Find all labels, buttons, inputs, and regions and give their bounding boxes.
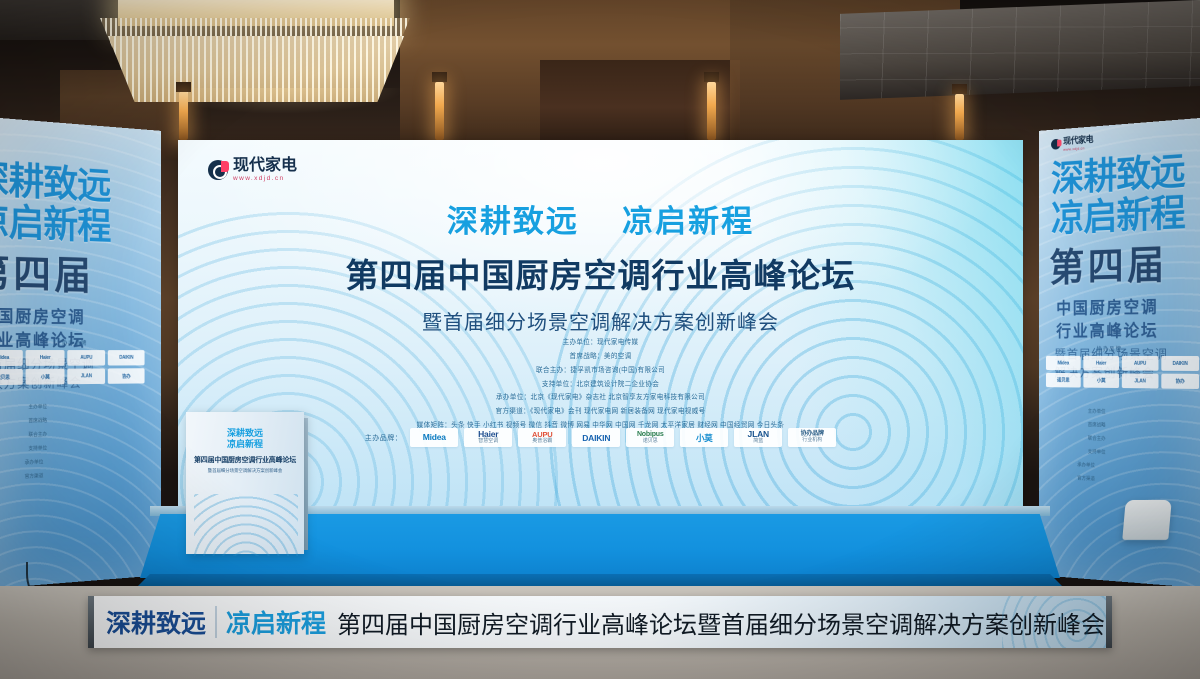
wing-left-note-2: 首席战略 [28,417,47,426]
wing-logo-chip: 小莫 [26,369,65,385]
sponsor-logo-xiaomo: 小莫 [680,428,728,447]
sponsor-subname: 智慧空调 [478,439,498,445]
sconce-cap-1 [176,82,191,92]
wing-logo-chip: AUPU [67,350,105,366]
wing-logo-chip: 诺贝思 [0,369,23,385]
stage-wing-left: 深耕致远 凉启新程 第四届 中国厨房空调 行业高峰论坛 暨首届细分场景空调 解决… [0,118,161,588]
wing-logo-chip: JLAN [67,368,105,384]
backdrop-slogan: 深耕致远 凉启新程 [178,196,1023,241]
sconce-cap-4 [952,84,967,94]
wing-logo-chip: Midea [1046,356,1081,370]
credit-line: 主办单位：现代家电传媒 [178,336,1023,350]
sponsor-subname: 行业机构 [802,438,822,444]
wing-right-slogan-2: 凉启新程 [1051,195,1185,240]
speaker-podium: 深耕致远 凉启新程 第四届中国厨房空调行业高峰论坛 暨首届细分场景空调解决方案创… [186,412,304,554]
wing-left-slogan-1: 深耕致远 [0,160,110,207]
banner-endcap-right [1106,596,1112,648]
chandelier-glow [156,88,406,114]
sponsor-logo-nobipus: Nobipus 诺贝思 [626,428,674,447]
wing-right-note-6: 官方渠道 [1077,475,1095,484]
wall-sconce-4 [955,94,964,140]
wing-left-note-5: 承办单位 [25,458,44,467]
podium-slogan-1: 深耕致远 [186,428,304,439]
credit-line: 联合主办：捷孚凯市场咨询(中国)有限公司 [178,364,1023,378]
wing-left-slogan-2: 凉启新程 [0,203,110,248]
sponsor-logo-jlan: JLAN 简蓝 [734,428,782,447]
wing-right-brand-logo: 现代家电 www.xdjd.cn [1051,132,1093,152]
wing-right-note-5: 承办单位 [1077,461,1095,470]
wing-left-note-4: 支持单位 [28,445,47,454]
wing-left-sub-1: 中国厨房空调 [0,306,85,330]
credit-line: 首席战略：美的空调 [178,350,1023,364]
wing-left-big-title: 第四届 [0,253,94,296]
wing-left-note-3: 联合主办 [28,431,47,440]
crystal-chandelier [96,0,416,102]
slogan-right: 凉启新程 [622,204,754,239]
brand-url: www.xdjd.cn [233,176,297,183]
wing-left-logo-grid: Midea Haier AUPU DAIKIN 诺贝思 小莫 JLAN 协办 [0,350,156,385]
banner-divider [215,606,217,638]
slogan-left: 深耕致远 [447,204,579,239]
sponsor-name: Midea [423,433,446,442]
podium-sub-title: 暨首届细分场景空调解决方案创新峰会 [186,468,304,474]
wing-right-note-1: 主办单位 [1088,408,1106,417]
wing-logo-chip: Midea [0,350,23,366]
banner-title: 第四届中国厨房空调行业高峰论坛暨首届细分场景空调解决方案创新峰会 [337,605,1105,640]
wall-sconce-3 [707,82,716,140]
stage-front-banner: 深耕致远 凉启新程 第四届中国厨房空调行业高峰论坛暨首届细分场景空调解决方案创新… [88,596,1112,648]
wing-right-logo-grid: Midea Haier AUPU DAIKIN 诺贝思 小莫 JLAN 协办 [1046,356,1200,389]
wall-sconce-1 [179,92,188,140]
sponsor-logo-aupu: AUPU 奥普浴霸 [518,428,566,447]
banner-endcap-left [88,596,94,648]
banner-ring-pattern [1002,596,1112,648]
sponsor-subname: 简蓝 [753,439,763,445]
stage-wing-right: 现代家电 www.xdjd.cn 深耕致远 凉启新程 第四届 中国厨房空调 行业… [1039,118,1200,588]
wing-right-partner-label: 协办品牌 [1097,344,1122,353]
xdjd-mark-icon [208,160,228,180]
conference-stage-photo: 深耕致远 凉启新程 第四届 中国厨房空调 行业高峰论坛 暨首届细分场景空调 解决… [0,0,1200,679]
wing-right-sub-2: 行业高峰论坛 [1056,320,1158,343]
wing-logo-chip: AUPU [1122,356,1159,371]
sponsor-name: 小莫 [696,432,713,444]
xdjd-mark-icon [1051,138,1061,149]
wing-left-note-6: 官方渠道 [25,472,44,481]
wing-right-note-2: 首席战略 [1088,421,1106,430]
credit-line: 支持单位：北京建筑设计院二企业协会 [178,378,1023,392]
credit-line: 官方渠道：《现代家电》会刊 现代家电网 新居装备网 现代家电视威号 [178,405,1023,419]
wing-right-big-title: 第四届 [1049,245,1167,287]
wing-logo-chip: DAIKIN [1161,356,1199,371]
brand-name: 现代家电 [233,158,297,174]
wing-brand-name: 现代家电 [1063,132,1093,147]
wing-left-note-1: 主办单位 [28,403,47,412]
podium-main-title: 第四届中国厨房空调行业高峰论坛 [186,455,304,465]
backdrop-main-title: 第四届中国厨房空调行业高峰论坛 [178,249,1023,297]
sponsor-logo-midea: Midea [410,428,458,447]
sconce-cap-2 [432,72,447,82]
wing-logo-chip: JLAN [1122,373,1159,388]
banner-slogan-left: 深耕致远 [106,604,206,640]
credit-line: 承办单位：北京《现代家电》杂志社 北京智享友方家电科技有限公司 [178,391,1023,405]
sponsor-row-label: 主办品牌： [365,433,403,443]
backdrop-brand-logo: 现代家电 www.xdjd.cn [208,158,297,183]
ceiling-grid [840,0,1200,100]
wing-left-partner-label: 协办品牌 [62,338,87,347]
wing-logo-chip: Haier [1083,356,1119,371]
sponsor-logo-daikin: DAIKIN [572,428,620,447]
wing-right-note-3: 联合主办 [1088,435,1106,444]
sponsor-name: DAIKIN [582,433,610,443]
wing-logo-chip: Haier [26,350,65,366]
podium-slogan-2: 凉启新程 [186,439,304,450]
sponsor-subname: 诺贝思 [643,439,658,445]
wing-right-sub-1: 中国厨房空调 [1056,297,1158,321]
sponsor-logo-haier: Haier 智慧空调 [464,428,512,447]
wing-logo-chip: 小莫 [1083,373,1119,388]
banner-slogan-right: 凉启新程 [226,604,326,640]
wing-right-note-4: 支持单位 [1088,448,1106,457]
wing-logo-chip: 协办 [1161,374,1199,389]
wing-logo-chip: 协办 [108,368,145,384]
backdrop-sub-title: 暨首届细分场景空调解决方案创新峰会 [178,306,1023,335]
stage-chair [1122,500,1171,540]
wall-sconce-2 [435,82,444,140]
podium-ring-pattern [194,494,298,556]
sponsor-subname: 奥普浴霸 [532,439,552,445]
wing-logo-chip: 诺贝思 [1046,373,1081,388]
sponsor-logo-partner: 协办品牌 行业机构 [788,428,836,447]
podium-sign: 深耕致远 凉启新程 第四届中国厨房空调行业高峰论坛 暨首届细分场景空调解决方案创… [186,428,304,474]
backdrop-title-block: 深耕致远 凉启新程 第四届中国厨房空调行业高峰论坛 暨首届细分场景空调解决方案创… [178,196,1023,335]
sconce-cap-3 [704,72,719,82]
wing-logo-chip: DAIKIN [108,350,145,365]
